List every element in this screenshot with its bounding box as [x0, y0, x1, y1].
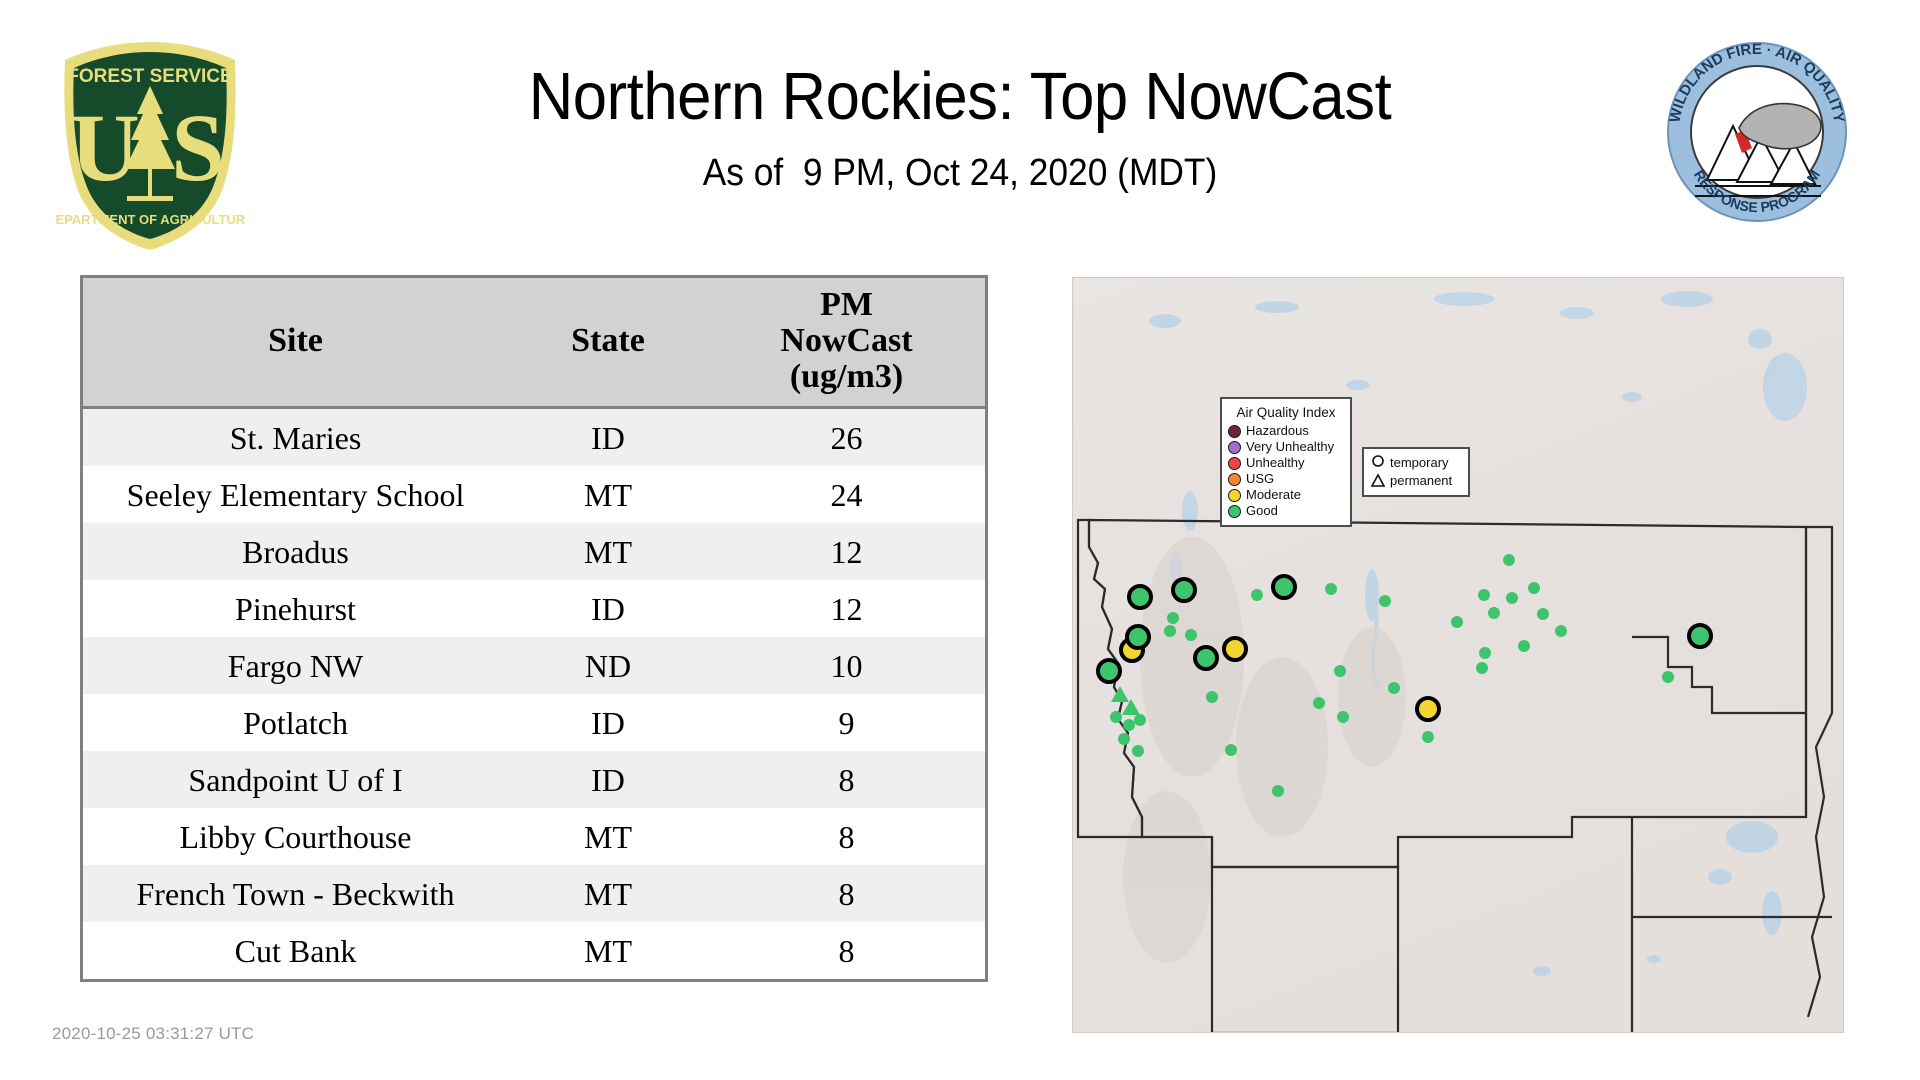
- usfs-logo-letter-u: U: [70, 94, 139, 201]
- site-cell: Pinehurst: [83, 580, 508, 637]
- pm-nowcast-cell: 8: [708, 751, 985, 808]
- state-cell: MT: [508, 865, 708, 922]
- site-cell: Broadus: [83, 523, 508, 580]
- monitor-marker[interactable]: [1379, 595, 1391, 607]
- legend-row-temporary: temporary: [1370, 454, 1462, 472]
- column-header-pm-line1: PM: [712, 287, 981, 323]
- table-row: Seeley Elementary SchoolMT24: [83, 466, 985, 523]
- legend-label-temporary: temporary: [1390, 455, 1449, 471]
- monitor-marker[interactable]: [1518, 640, 1530, 652]
- monitor-marker[interactable]: [1325, 583, 1337, 595]
- pm-nowcast-cell: 10: [708, 637, 985, 694]
- monitor-marker[interactable]: [1687, 623, 1713, 649]
- wildland-fire-air-quality-logo: WILDLAND FIRE · AIR QUALITY RESPONSE PRO…: [1655, 40, 1860, 225]
- monitor-marker[interactable]: [1479, 647, 1491, 659]
- monitor-marker[interactable]: [1118, 733, 1130, 745]
- monitor-marker[interactable]: [1488, 607, 1500, 619]
- table-row: Sandpoint U of IID8: [83, 751, 985, 808]
- permanent-triangle-icon: [1370, 473, 1386, 489]
- aqi-legend-label: USG: [1246, 471, 1274, 487]
- site-cell: Libby Courthouse: [83, 808, 508, 865]
- monitor-marker[interactable]: [1167, 612, 1179, 624]
- state-cell: MT: [508, 523, 708, 580]
- aqi-legend-title: Air Quality Index: [1228, 404, 1344, 421]
- monitor-marker[interactable]: [1506, 592, 1518, 604]
- pm-nowcast-cell: 26: [708, 408, 985, 467]
- aqi-legend-swatch-icon: [1228, 425, 1241, 438]
- aqi-legend-swatch-icon: [1228, 473, 1241, 486]
- pm-nowcast-cell: 8: [708, 922, 985, 979]
- monitor-type-legend: temporary permanent: [1362, 447, 1470, 497]
- table-row: PinehurstID12: [83, 580, 985, 637]
- aqi-legend-row: Moderate: [1228, 487, 1344, 503]
- table-row: Libby CourthouseMT8: [83, 808, 985, 865]
- state-cell: ID: [508, 751, 708, 808]
- state-cell: ID: [508, 408, 708, 467]
- temporary-circle-icon: [1370, 455, 1386, 471]
- column-header-pm-nowcast: PM NowCast (ug/m3): [708, 278, 985, 408]
- page-subtitle: As of 9 PM, Oct 24, 2020 (MDT): [309, 150, 1611, 196]
- monitor-marker[interactable]: [1125, 624, 1151, 650]
- aqi-legend: Air Quality Index HazardousVery Unhealth…: [1220, 397, 1352, 527]
- aqi-legend-row: Hazardous: [1228, 423, 1344, 439]
- state-cell: MT: [508, 466, 708, 523]
- monitor-marker[interactable]: [1272, 785, 1284, 797]
- aqi-legend-rows: HazardousVery UnhealthyUnhealthyUSGModer…: [1228, 423, 1344, 519]
- table-body: St. MariesID26Seeley Elementary SchoolMT…: [83, 408, 985, 980]
- monitor-marker[interactable]: [1662, 671, 1674, 683]
- table-row: BroadusMT12: [83, 523, 985, 580]
- monitor-marker[interactable]: [1122, 699, 1140, 715]
- legend-label-permanent: permanent: [1390, 473, 1452, 489]
- site-cell: Fargo NW: [83, 637, 508, 694]
- aqi-legend-label: Good: [1246, 503, 1278, 519]
- state-cell: ID: [508, 694, 708, 751]
- monitor-marker[interactable]: [1271, 574, 1297, 600]
- column-header-state: State: [508, 278, 708, 408]
- pm-nowcast-cell: 24: [708, 466, 985, 523]
- monitor-marker[interactable]: [1503, 554, 1515, 566]
- column-header-pm-line2: NowCast: [712, 323, 981, 359]
- monitor-marker[interactable]: [1415, 696, 1441, 722]
- top-nowcast-table: Site State PM NowCast (ug/m3) St. Maries…: [83, 278, 985, 979]
- aqi-legend-swatch-icon: [1228, 441, 1241, 454]
- column-header-site-label: Site: [268, 322, 323, 359]
- top-nowcast-table-container: Site State PM NowCast (ug/m3) St. Maries…: [80, 275, 988, 982]
- table-row: PotlatchID9: [83, 694, 985, 751]
- table-row: Fargo NWND10: [83, 637, 985, 694]
- pm-nowcast-cell: 8: [708, 808, 985, 865]
- aqi-legend-swatch-icon: [1228, 489, 1241, 502]
- site-cell: St. Maries: [83, 408, 508, 467]
- aqi-legend-row: Unhealthy: [1228, 455, 1344, 471]
- table-header: Site State PM NowCast (ug/m3): [83, 278, 985, 408]
- state-cell: MT: [508, 922, 708, 979]
- aqi-legend-label: Hazardous: [1246, 423, 1309, 439]
- monitor-marker[interactable]: [1528, 582, 1540, 594]
- usfs-logo-letter-s: S: [171, 94, 224, 201]
- air-quality-map[interactable]: Air Quality Index HazardousVery Unhealth…: [1072, 277, 1844, 1033]
- usfs-logo-bottom-text: DEPARTMENT OF AGRICULTURE: [55, 212, 245, 227]
- monitor-marker[interactable]: [1164, 625, 1176, 637]
- table-row: Cut BankMT8: [83, 922, 985, 979]
- monitor-marker[interactable]: [1193, 645, 1219, 671]
- monitor-marker[interactable]: [1171, 577, 1197, 603]
- map-basemap: [1072, 277, 1844, 1033]
- aqi-legend-row: Very Unhealthy: [1228, 439, 1344, 455]
- site-cell: Potlatch: [83, 694, 508, 751]
- monitor-marker[interactable]: [1478, 589, 1490, 601]
- monitor-marker[interactable]: [1096, 658, 1122, 684]
- monitor-marker[interactable]: [1185, 629, 1197, 641]
- monitor-marker[interactable]: [1451, 616, 1463, 628]
- site-cell: Seeley Elementary School: [83, 466, 508, 523]
- table-header-row: Site State PM NowCast (ug/m3): [83, 278, 985, 408]
- pm-nowcast-cell: 8: [708, 865, 985, 922]
- aqi-legend-row: Good: [1228, 503, 1344, 519]
- header-band: FOREST SERVICE U S DEPARTMENT OF AGRICUL…: [0, 0, 1920, 262]
- pm-nowcast-cell: 9: [708, 694, 985, 751]
- usfs-logo-top-text: FOREST SERVICE: [67, 66, 232, 87]
- legend-row-permanent: permanent: [1370, 472, 1462, 490]
- aqi-legend-row: USG: [1228, 471, 1344, 487]
- table-row: French Town - BeckwithMT8: [83, 865, 985, 922]
- monitor-marker[interactable]: [1476, 662, 1488, 674]
- usfs-shield-logo: FOREST SERVICE U S DEPARTMENT OF AGRICUL…: [55, 38, 245, 253]
- monitor-marker[interactable]: [1127, 584, 1153, 610]
- site-cell: Cut Bank: [83, 922, 508, 979]
- column-header-state-label: State: [571, 322, 645, 359]
- monitor-marker[interactable]: [1251, 589, 1263, 601]
- aqi-legend-label: Moderate: [1246, 487, 1301, 503]
- monitor-marker[interactable]: [1222, 636, 1248, 662]
- footer-timestamp: 2020-10-25 03:31:27 UTC: [52, 1024, 254, 1044]
- aqi-legend-swatch-icon: [1228, 457, 1241, 470]
- state-cell: ID: [508, 580, 708, 637]
- monitor-marker[interactable]: [1206, 691, 1218, 703]
- monitor-marker[interactable]: [1132, 745, 1144, 757]
- aqi-legend-swatch-icon: [1228, 505, 1241, 518]
- monitor-marker[interactable]: [1334, 665, 1346, 677]
- monitor-marker[interactable]: [1388, 682, 1400, 694]
- monitor-marker[interactable]: [1225, 744, 1237, 756]
- site-cell: Sandpoint U of I: [83, 751, 508, 808]
- monitor-marker[interactable]: [1537, 608, 1549, 620]
- state-cell: ND: [508, 637, 708, 694]
- aqi-legend-label: Unhealthy: [1246, 455, 1305, 471]
- monitor-marker[interactable]: [1555, 625, 1567, 637]
- column-header-site: Site: [83, 278, 508, 408]
- site-cell: French Town - Beckwith: [83, 865, 508, 922]
- pm-nowcast-cell: 12: [708, 523, 985, 580]
- monitor-marker[interactable]: [1337, 711, 1349, 723]
- monitor-marker[interactable]: [1134, 714, 1146, 726]
- state-cell: MT: [508, 808, 708, 865]
- column-header-pm-line3: (ug/m3): [712, 359, 981, 395]
- table-row: St. MariesID26: [83, 408, 985, 467]
- pm-nowcast-cell: 12: [708, 580, 985, 637]
- monitor-marker[interactable]: [1110, 711, 1122, 723]
- monitor-marker[interactable]: [1422, 731, 1434, 743]
- aqi-legend-label: Very Unhealthy: [1246, 439, 1334, 455]
- page-title: Northern Rockies: Top NowCast: [316, 58, 1604, 136]
- monitor-marker[interactable]: [1313, 697, 1325, 709]
